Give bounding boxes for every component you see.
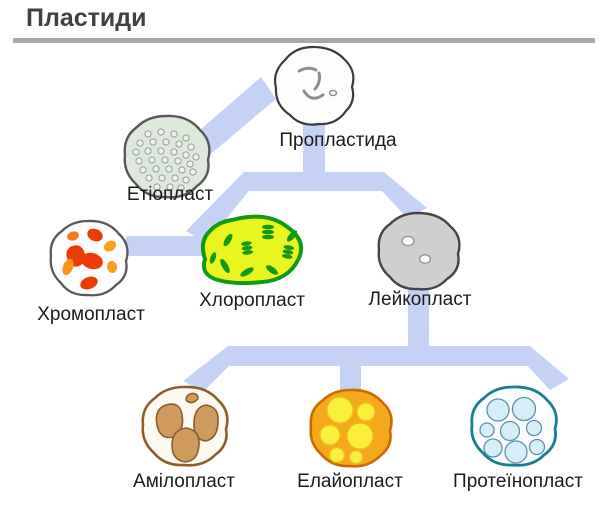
proplastid-label: Пропластида xyxy=(279,130,397,151)
node-etioplast[interactable]: Етіопласт xyxy=(125,116,214,205)
elaioplast-label: Елайопласт xyxy=(297,471,403,492)
proplastid-body xyxy=(275,47,353,125)
proteinoplast-label: Протеїнопласт xyxy=(453,471,583,492)
edge-leucoplast-amyloplast xyxy=(183,346,249,392)
proteinoplast-protein-bodies xyxy=(480,398,545,464)
etioplast-label: Етіопласт xyxy=(127,184,214,205)
node-proteinoplast[interactable]: Протеїнопласт xyxy=(453,387,583,492)
edge-proplastid-leucoplast xyxy=(364,172,427,218)
chloroplast-label: Хлоропласт xyxy=(199,290,305,311)
node-elaioplast[interactable]: Елайопласт xyxy=(297,390,403,492)
node-leucoplast[interactable]: Лейкопласт xyxy=(369,213,472,310)
amyloplast-label: Амілопласт xyxy=(133,471,235,492)
leucoplast-label: Лейкопласт xyxy=(369,289,472,310)
node-proplastid[interactable]: Пропластида xyxy=(275,47,397,151)
chromoplast-label: Хромопласт xyxy=(37,304,145,325)
node-chloroplast[interactable]: Хлоропласт xyxy=(199,217,305,311)
edge-chloroplast-chromoplast xyxy=(126,236,208,256)
edge-bar-upper xyxy=(244,172,384,191)
edge-leucoplast-proteinoplast xyxy=(509,346,569,390)
plastid-hierarchy-diagram: Пропластида xyxy=(0,0,608,512)
edge-bar-lower xyxy=(228,346,530,366)
node-amyloplast[interactable]: Амілопласт xyxy=(133,387,235,492)
leucoplast-body xyxy=(379,213,460,289)
